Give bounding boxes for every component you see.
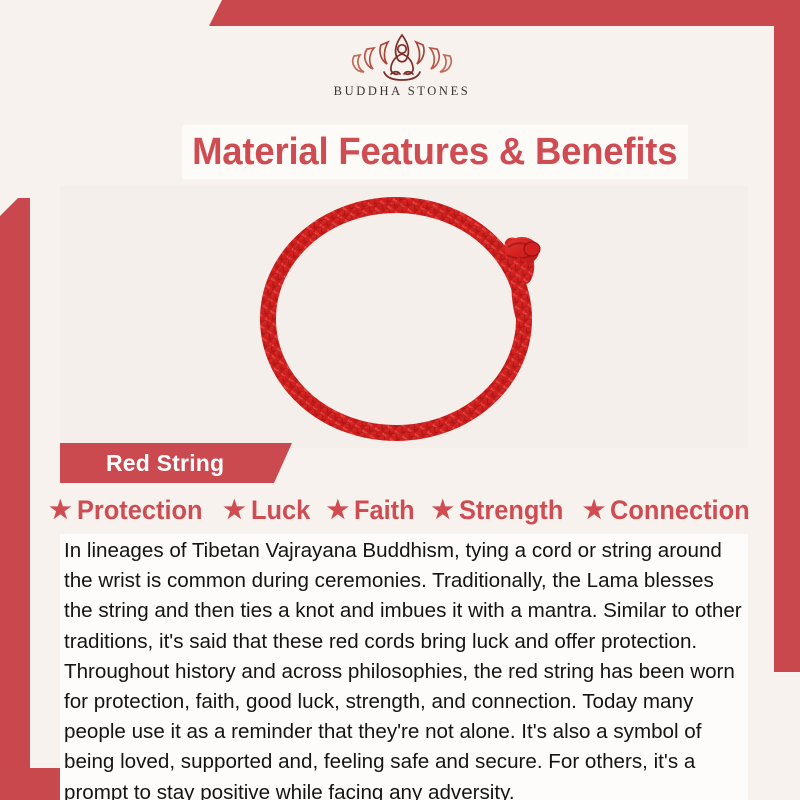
lotus-meditation-icon [336, 28, 468, 86]
star-icon: ★ [223, 498, 245, 523]
page-title: Material Features & Benefits [192, 131, 677, 174]
star-icon: ★ [583, 498, 605, 523]
red-string-bracelet-illustration [224, 189, 584, 445]
decor-right-bar [774, 0, 800, 672]
feature-label: Connection [610, 495, 750, 526]
decor-left-upper-bar [0, 198, 30, 430]
star-icon: ★ [49, 498, 71, 523]
brand-name: BUDDHA STONES [334, 84, 471, 99]
product-label-banner: Red String [60, 443, 292, 483]
content-card: BUDDHA STONES Material Features & Benefi… [30, 26, 774, 768]
star-icon: ★ [431, 498, 453, 523]
brand-header: BUDDHA STONES [30, 26, 774, 104]
description-text: In lineages of Tibetan Vajrayana Buddhis… [60, 534, 748, 800]
feature-label: Protection [77, 495, 203, 526]
feature-label: Luck [251, 495, 310, 526]
product-photo [60, 186, 748, 448]
title-banner: Material Features & Benefits [182, 125, 688, 179]
feature-label: Faith [354, 495, 415, 526]
feature-item-protection: ★ Protection [49, 495, 210, 526]
infographic-page: BUDDHA STONES Material Features & Benefi… [0, 0, 800, 800]
decor-left-lower-bar [0, 430, 30, 772]
product-label: Red String [106, 450, 224, 477]
decor-top-bar [0, 0, 800, 26]
feature-item-luck: ★ Luck [223, 495, 313, 526]
star-icon: ★ [327, 498, 349, 523]
feature-label: Strength [459, 495, 563, 526]
feature-list: ★ Protection ★ Luck ★ Faith ★ Strength ★… [60, 489, 748, 531]
feature-item-strength: ★ Strength [431, 495, 569, 526]
feature-item-faith: ★ Faith [327, 495, 419, 526]
feature-item-connection: ★ Connection [583, 495, 759, 526]
